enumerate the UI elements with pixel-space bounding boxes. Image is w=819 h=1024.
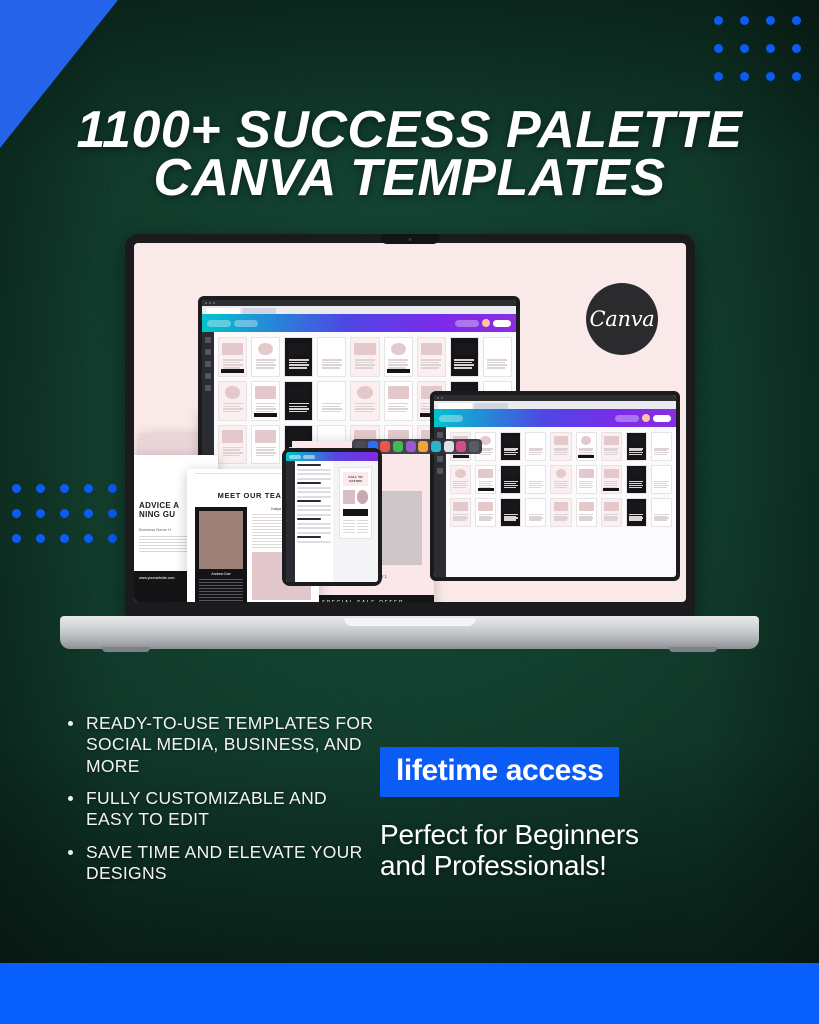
rail-uploads-icon[interactable] — [437, 456, 443, 462]
team-member-card-left: Andrew Doe — [195, 507, 247, 602]
template-thumbnail[interactable] — [576, 498, 597, 527]
thumbnail-text-line — [256, 367, 274, 369]
template-thumbnail[interactable] — [317, 381, 346, 421]
tablet-doc-text-columns — [343, 520, 369, 534]
thumbnail-text-line — [355, 364, 375, 366]
tablet-doc-heading: CALL TO ACTION — [343, 472, 369, 486]
inner-tablet-device: CALL TO ACTION — [282, 448, 382, 586]
font-option-row[interactable] — [297, 491, 331, 493]
thumbnail-accent-bar — [628, 521, 644, 524]
font-option-row[interactable] — [297, 509, 331, 511]
thumbnail-text-line — [256, 364, 276, 366]
thumbnail-accent-bar — [478, 488, 494, 491]
team-member-photo — [199, 511, 243, 569]
header-right-group — [615, 414, 671, 422]
canva-tablet-header — [286, 452, 378, 461]
thumbnail-text-line — [322, 411, 340, 413]
template-thumbnail[interactable] — [601, 465, 622, 494]
thumbnail-accent-bar — [453, 455, 469, 458]
template-thumbnail[interactable] — [550, 498, 571, 527]
template-thumbnail[interactable] — [525, 432, 546, 461]
thumbnail-text-line — [256, 449, 274, 451]
template-thumbnail[interactable] — [417, 337, 446, 377]
thumbnail-text-line — [529, 519, 542, 521]
dock-app-icon[interactable] — [418, 441, 428, 452]
thumbnail-photo — [225, 386, 240, 398]
thumbnail-photo — [629, 502, 644, 511]
thumbnail-photo — [604, 436, 619, 445]
thumbnail-text-line — [256, 447, 276, 449]
decor-dot-icon — [792, 16, 801, 25]
thumbnail-text-line — [388, 364, 408, 366]
template-thumbnail[interactable] — [651, 465, 672, 494]
thumbnail-text-line — [479, 454, 492, 456]
thumbnail-text-line — [256, 455, 274, 457]
template-thumbnail[interactable] — [475, 498, 496, 527]
list-item: Ready-to-use templates for social media,… — [62, 713, 374, 777]
thumbnail-accent-bar — [254, 413, 277, 417]
thumbnail-text-line — [289, 406, 307, 408]
font-option-row[interactable] — [297, 536, 321, 538]
font-option-row[interactable] — [297, 532, 331, 534]
tablet-doc-text-col — [357, 520, 369, 534]
laptop-mockup: Canva — [60, 234, 759, 649]
laptop-lid: Canva — [125, 234, 695, 616]
dock-app-icon[interactable] — [380, 441, 390, 452]
thumbnail-photo — [478, 469, 493, 478]
template-thumbnail[interactable] — [601, 498, 622, 527]
header-left-group — [207, 320, 258, 327]
thumbnail-text-line — [487, 359, 507, 361]
thumbnail-photo — [629, 436, 644, 445]
thumbnail-text-line — [388, 406, 406, 408]
client-sheet-footer-text: SPECIAL SALE OFFER — [322, 600, 404, 602]
advice-heading-line-2: NING GU — [139, 510, 175, 519]
thumbnail-photo — [453, 502, 468, 511]
template-thumbnail[interactable] — [525, 498, 546, 527]
template-thumbnail[interactable] — [651, 432, 672, 461]
canva-app-header — [434, 409, 676, 427]
thumbnail-text-line — [355, 403, 375, 405]
font-option-row[interactable] — [297, 478, 331, 480]
template-thumbnail[interactable] — [651, 498, 672, 527]
canva-tablet-body: CALL TO ACTION — [286, 461, 378, 582]
header-pill[interactable] — [234, 320, 258, 327]
thumbnail-text-line — [322, 406, 340, 408]
thumbnail-text-line — [223, 449, 241, 451]
thumbnail-text-line — [355, 367, 373, 369]
thumbnail-text-line — [479, 519, 492, 521]
offer-tagline: Perfect for Beginners and Professionals! — [380, 819, 770, 882]
thumbnail-text-line — [256, 362, 274, 364]
feature-bullet-list: Ready-to-use templates for social media,… — [62, 713, 374, 895]
inner-tablet-screen: CALL TO ACTION — [286, 452, 378, 582]
header-pill[interactable] — [303, 455, 315, 459]
template-thumbnail[interactable] — [350, 337, 379, 377]
thumbnail-text-line — [453, 519, 466, 521]
template-thumbnail[interactable] — [626, 432, 647, 461]
canva-logo: Canva — [586, 283, 658, 355]
thumbnail-text-line — [454, 362, 472, 364]
font-option-row[interactable] — [297, 541, 331, 543]
rail-text-icon[interactable] — [205, 373, 211, 379]
tablet-doc-images — [343, 490, 369, 504]
thumbnail-photo — [391, 343, 406, 355]
decor-dot-icon — [792, 72, 801, 81]
thumbnail-photo — [421, 343, 442, 356]
thumbnail-text-line — [654, 487, 667, 489]
thumbnail-text-line — [579, 519, 592, 521]
thumbnail-photo — [579, 469, 594, 478]
thumbnail-accent-bar — [387, 369, 410, 373]
thumbnail-photo — [354, 343, 375, 356]
template-thumbnail[interactable] — [218, 337, 247, 377]
thumbnail-text-line — [504, 487, 517, 489]
thumbnail-text-line — [487, 364, 507, 366]
template-thumbnail[interactable] — [550, 432, 571, 461]
template-thumbnail[interactable] — [384, 337, 413, 377]
rail-templates-icon[interactable] — [205, 337, 211, 343]
decor-dot-icon — [12, 484, 21, 493]
thumbnail-photo — [222, 430, 243, 443]
template-thumbnail[interactable] — [218, 425, 247, 465]
thumbnail-text-line — [453, 487, 466, 489]
tablet-doc-image — [343, 490, 355, 504]
template-thumbnail[interactable] — [475, 465, 496, 494]
font-option-row[interactable] — [297, 473, 331, 475]
thumbnail-photo — [388, 386, 409, 399]
thumbnail-text-line — [604, 454, 617, 456]
font-option-row[interactable] — [297, 496, 331, 498]
canva-tablet-rail[interactable] — [286, 461, 295, 582]
thumbnail-text-line — [289, 367, 307, 369]
decor-dot-icon — [36, 534, 45, 543]
avatar[interactable] — [642, 414, 650, 422]
font-option-row[interactable] — [297, 514, 331, 516]
thumbnail-text-line — [223, 455, 241, 457]
inner-monitor-secondary-device — [430, 391, 680, 581]
thumbnail-text-line — [223, 359, 243, 361]
thumbnail-text-line — [223, 406, 241, 408]
header-left-group — [439, 415, 463, 422]
header-pill[interactable] — [455, 320, 479, 327]
thumbnail-text-line — [322, 362, 340, 364]
thumbnail-text-line — [487, 362, 505, 364]
font-option-row[interactable] — [297, 505, 331, 507]
menubar-dot-icon — [441, 397, 443, 399]
browser-tab[interactable] — [438, 403, 472, 409]
thumbnail-text-line — [579, 487, 592, 489]
thumbnail-text-line — [289, 364, 309, 366]
header-pill[interactable] — [439, 415, 463, 422]
thumbnail-photo — [288, 386, 309, 399]
canva-tablet-app: CALL TO ACTION — [286, 452, 378, 582]
thumbnail-photo — [258, 343, 273, 355]
team-member-name: Andrew Doe — [199, 572, 243, 576]
template-thumbnail[interactable] — [626, 465, 647, 494]
template-thumbnail[interactable] — [450, 337, 479, 377]
template-thumbnail[interactable] — [218, 381, 247, 421]
laptop-base — [60, 616, 759, 649]
thumbnail-text-line — [322, 408, 342, 410]
thumbnail-text-line — [256, 406, 274, 408]
template-thumbnail[interactable] — [350, 381, 379, 421]
thumbnail-photo — [503, 436, 518, 445]
dock-app-icon[interactable] — [444, 441, 454, 452]
share-button[interactable] — [653, 415, 671, 422]
menubar-dot-icon — [205, 302, 207, 304]
template-thumbnail[interactable] — [284, 381, 313, 421]
template-thumbnail[interactable] — [626, 498, 647, 527]
thumbnail-accent-bar — [578, 455, 594, 458]
thumbnail-text-line — [421, 364, 441, 366]
thumbnail-text-line — [223, 403, 243, 405]
thumbnail-photo — [579, 502, 594, 511]
thumbnail-photo — [288, 343, 309, 356]
template-thumbnail[interactable] — [251, 425, 280, 465]
thumbnail-text-line — [529, 487, 542, 489]
font-option-row[interactable] — [297, 469, 331, 471]
thumbnail-text-line — [629, 487, 642, 489]
poster-canvas: 1100+ SUCCESS PALETTE CANVA TEMPLATES Ca… — [0, 0, 819, 1024]
advice-heading-line-1: ADVICE A — [139, 501, 179, 510]
thumbnail-text-line — [421, 362, 439, 364]
decor-dot-icon — [12, 509, 21, 518]
template-thumbnail[interactable] — [550, 465, 571, 494]
thumbnail-photo — [357, 386, 372, 398]
template-thumbnail[interactable] — [483, 337, 512, 377]
font-option-row[interactable] — [297, 482, 321, 484]
rail-templates-icon[interactable] — [437, 432, 443, 438]
thumbnail-photo — [255, 386, 276, 399]
thumbnail-text-line — [487, 367, 505, 369]
template-thumbnail[interactable] — [251, 381, 280, 421]
template-thumbnail[interactable] — [251, 337, 280, 377]
thumbnail-text-line — [223, 447, 243, 449]
template-thumbnail[interactable] — [384, 381, 413, 421]
thumbnail-photo — [554, 502, 569, 511]
font-option-row[interactable] — [297, 464, 321, 466]
thumbnail-text-line — [223, 364, 243, 366]
template-thumbnail[interactable] — [450, 465, 471, 494]
template-thumbnail[interactable] — [576, 432, 597, 461]
rail-elements-icon[interactable] — [205, 349, 211, 355]
thumbnail-text-line — [289, 408, 309, 410]
tagline-line-2: and Professionals! — [380, 850, 770, 881]
thumbnail-text-line — [223, 408, 243, 410]
tablet-document: CALL TO ACTION — [339, 467, 373, 539]
thumbnail-text-line — [322, 367, 340, 369]
template-thumbnail[interactable] — [317, 337, 346, 377]
thumbnail-text-line — [322, 364, 342, 366]
page-title: 1100+ SUCCESS PALETTE CANVA TEMPLATES — [0, 107, 819, 203]
dock-app-icon[interactable] — [393, 441, 403, 452]
tablet-doc-text-col — [343, 520, 355, 534]
share-button[interactable] — [493, 320, 511, 327]
decor-dot-icon — [766, 16, 775, 25]
template-thumbnail[interactable] — [576, 465, 597, 494]
thumbnail-photo — [222, 343, 243, 356]
thumbnail-text-line — [322, 359, 342, 361]
canva-tablet-canvas[interactable]: CALL TO ACTION — [333, 461, 378, 582]
webcam-icon — [409, 238, 412, 241]
template-thumbnail[interactable] — [525, 465, 546, 494]
decor-dot-icon — [36, 509, 45, 518]
thumbnail-text-line — [355, 359, 375, 361]
rail-uploads-icon[interactable] — [205, 361, 211, 367]
decor-dot-icon — [36, 484, 45, 493]
thumbnail-text-line — [256, 408, 276, 410]
thumbnail-photo — [581, 436, 592, 445]
dock-app-icon[interactable] — [469, 441, 479, 452]
template-thumbnail[interactable] — [284, 337, 313, 377]
list-item: Fully customizable and easy to edit — [62, 788, 374, 831]
rail-more-icon[interactable] — [205, 385, 211, 391]
header-pill[interactable] — [207, 320, 231, 327]
laptop-foot-left — [102, 647, 150, 652]
browser-tab[interactable] — [206, 308, 240, 314]
template-thumbnail[interactable] — [450, 498, 471, 527]
decor-dot-icon — [740, 16, 749, 25]
status-badge: lifetime access — [380, 747, 619, 797]
dock-app-icon[interactable] — [406, 441, 416, 452]
rail-text-icon[interactable] — [437, 468, 443, 474]
browser-tab[interactable] — [474, 403, 508, 409]
menubar-dot-icon — [213, 302, 215, 304]
tagline-line-1: Perfect for Beginners — [380, 819, 770, 850]
thumbnail-text-line — [629, 454, 642, 456]
decor-dot-icon — [792, 44, 801, 53]
thumbnail-text-line — [421, 359, 441, 361]
thumbnail-text-line — [554, 519, 567, 521]
template-thumbnail[interactable] — [500, 432, 521, 461]
thumbnail-text-line — [604, 519, 617, 521]
header-pill[interactable] — [615, 415, 639, 422]
thumbnail-photo — [604, 502, 619, 511]
tablet-doc-image-circle — [357, 490, 369, 504]
thumbnail-text-line — [322, 403, 342, 405]
thumbnail-text-line — [256, 359, 276, 361]
thumbnail-text-line — [554, 454, 567, 456]
list-item: Save time and elevate your designs — [62, 842, 374, 885]
thumbnail-text-line — [654, 454, 667, 456]
font-option-row[interactable] — [297, 500, 321, 502]
thumbnail-photo — [604, 469, 619, 478]
menubar-dot-icon — [209, 302, 211, 304]
thumbnail-photo — [455, 469, 466, 478]
decor-dot-icon — [714, 44, 723, 53]
thumbnail-photo — [503, 502, 518, 511]
laptop-screen: Canva — [134, 243, 686, 602]
template-thumbnail[interactable] — [500, 498, 521, 527]
thumbnail-text-line — [504, 454, 517, 456]
thumbnail-text-line — [454, 364, 474, 366]
thumbnail-text-line — [256, 452, 276, 454]
template-thumbnail[interactable] — [500, 465, 521, 494]
offer-block: lifetime access Perfect for Beginners an… — [380, 747, 770, 882]
thumbnail-photo — [556, 469, 567, 478]
thumbnail-photo — [629, 469, 644, 478]
decor-dot-icon — [740, 44, 749, 53]
font-option-row[interactable] — [297, 523, 331, 525]
dot-grid-top-right — [705, 6, 809, 90]
thumbnail-text-line — [355, 408, 375, 410]
inner-monitor-secondary-screen — [434, 395, 676, 577]
decor-dot-icon — [714, 72, 723, 81]
laptop-notch — [381, 234, 439, 244]
browser-tab-strip[interactable] — [434, 401, 676, 409]
headline-line-2: CANVA TEMPLATES — [40, 155, 779, 203]
thumbnail-text-line — [256, 403, 276, 405]
thumbnail-text-line — [388, 359, 408, 361]
bottom-blue-bar — [0, 963, 819, 1024]
template-thumbnail[interactable] — [601, 432, 622, 461]
thumbnail-text-line — [554, 487, 567, 489]
thumbnail-text-line — [289, 403, 309, 405]
thumbnail-text-line — [289, 362, 307, 364]
font-option-row[interactable] — [297, 487, 331, 489]
thumbnail-text-line — [654, 519, 667, 521]
font-option-row[interactable] — [297, 518, 321, 520]
canva-app-header — [202, 314, 516, 332]
team-member-bio-lines — [199, 579, 243, 602]
thumbnail-photo — [255, 430, 276, 443]
thumbnail-photo — [503, 469, 518, 478]
header-right-group — [455, 319, 511, 327]
headline-line-1: 1100+ SUCCESS PALETTE — [40, 107, 779, 155]
browser-tab[interactable] — [242, 308, 276, 314]
thumbnail-photo — [478, 502, 493, 511]
thumbnail-text-line — [388, 408, 408, 410]
dock-app-icon[interactable] — [431, 441, 441, 452]
decor-dot-icon — [714, 16, 723, 25]
thumbnail-text-line — [223, 411, 241, 413]
thumbnail-text-line — [529, 454, 542, 456]
thumbnail-text-line — [355, 406, 373, 408]
thumbnail-text-line — [454, 359, 474, 361]
thumbnail-text-line — [289, 359, 309, 361]
thumbnail-text-line — [355, 411, 373, 413]
thumbnail-text-line — [388, 362, 406, 364]
thumbnail-accent-bar — [221, 369, 244, 373]
thumbnail-text-line — [289, 411, 307, 413]
thumbnail-photo — [554, 436, 569, 445]
thumbnail-text-line — [421, 367, 439, 369]
decor-dot-icon — [12, 534, 21, 543]
decor-dot-icon — [740, 72, 749, 81]
font-option-row[interactable] — [297, 527, 331, 529]
thumbnail-text-line — [454, 367, 472, 369]
laptop-foot-right — [669, 647, 717, 652]
header-pill[interactable] — [289, 455, 301, 459]
decor-dot-icon — [766, 44, 775, 53]
thumbnail-text-line — [388, 403, 408, 405]
thumbnail-accent-bar — [503, 521, 519, 524]
canva-tablet-font-panel[interactable] — [295, 461, 333, 582]
thumbnail-photo — [454, 343, 475, 356]
dock-app-icon[interactable] — [456, 441, 466, 452]
thumbnail-text-line — [355, 362, 373, 364]
tablet-doc-cta-button — [343, 509, 369, 516]
browser-tab-strip[interactable] — [202, 306, 516, 314]
thumbnail-text-line — [388, 411, 406, 413]
avatar[interactable] — [482, 319, 490, 327]
thumbnail-text-line — [223, 362, 241, 364]
decor-dot-icon — [766, 72, 775, 81]
menubar-dot-icon — [437, 397, 439, 399]
laptop-base-notch — [344, 618, 476, 626]
bullet-list: Ready-to-use templates for social media,… — [62, 713, 374, 884]
